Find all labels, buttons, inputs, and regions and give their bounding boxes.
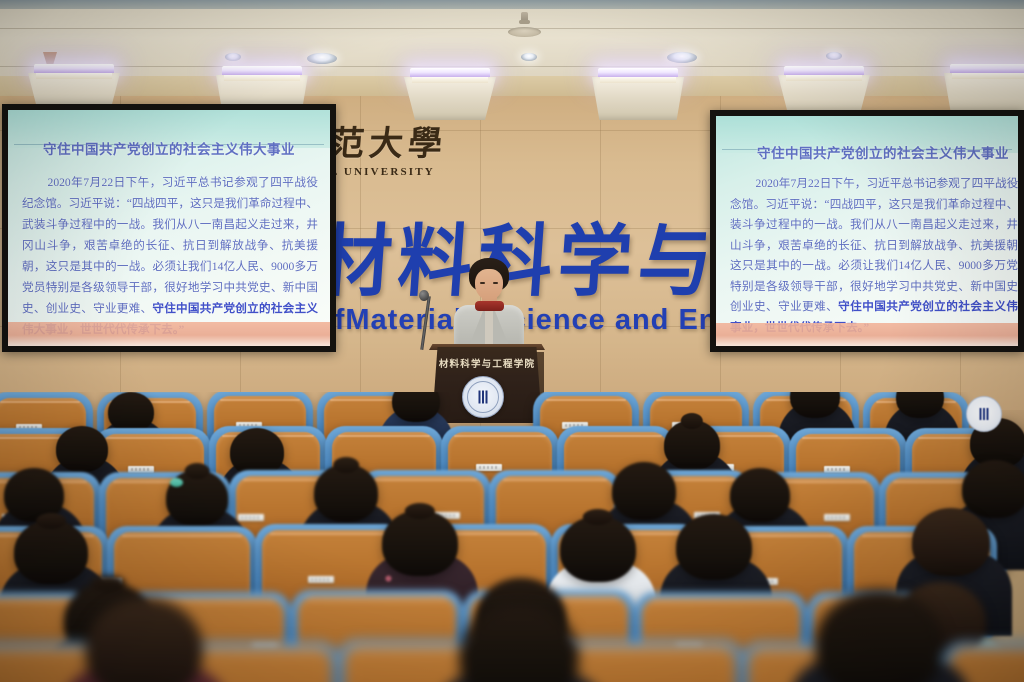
hair-scrunchie — [170, 478, 183, 487]
audience-member-head — [382, 510, 458, 576]
audience-member-head — [56, 426, 108, 472]
audience-seating — [0, 392, 1024, 682]
light-lip — [412, 77, 488, 83]
slide-surface: 守住中国共产党创立的社会主义伟大事业 2020年7月22日下午，习近平总书记参观… — [8, 110, 330, 346]
seat-number-plate — [824, 514, 850, 521]
sprinkler-icon — [521, 12, 528, 22]
audience-member-head — [560, 516, 636, 582]
seat-number-plate — [476, 464, 502, 471]
light-lip — [600, 77, 676, 83]
slide-footer-band — [716, 323, 1018, 346]
audience-member-head — [230, 428, 284, 476]
slide-paragraph: 2020年7月22日下午，习近平总书记参观了四平战役纪念馆。习近平说：“四战四平… — [22, 176, 318, 315]
slide-footer-band — [8, 322, 330, 346]
ceiling-box-light — [404, 68, 496, 120]
left-projection-screen: 守住中国共产党创立的社会主义伟大事业 2020年7月22日下午，习近平总书记参观… — [2, 104, 336, 352]
slide-body: 2020年7月22日下午，习近平总书记参观了四平战役纪念馆。习近平说：“四战四平… — [730, 174, 1018, 338]
ceiling-seam — [0, 66, 1024, 67]
university-name-chinese: 范大學 — [329, 128, 482, 162]
wall-emblem-icon — [966, 396, 1002, 432]
audience-member-head — [912, 508, 990, 576]
light-lip — [36, 73, 112, 79]
department-sign-english: ofMaterials Science and Eng — [316, 306, 736, 335]
light-housing — [592, 77, 684, 120]
slide-body: 2020年7月22日下午，习近平总书记参观了四平战役纪念馆。习近平说：“四战四平… — [22, 172, 318, 340]
slide-title: 守住中国共产党创立的社会主义伟大事业 — [8, 138, 330, 158]
seat-number-plate — [238, 514, 264, 521]
light-lip — [224, 75, 300, 81]
recessed-light-icon — [521, 53, 537, 61]
university-name-english: L UNIVERSITY — [330, 166, 480, 178]
audience-member-head — [314, 464, 378, 522]
audience-member-head — [108, 392, 154, 432]
audience-member-head — [962, 460, 1024, 518]
downlight-icon — [667, 52, 697, 63]
light-lip — [952, 73, 1024, 79]
slide-surface: 守住中国共产党创立的社会主义伟大事业 2020年7月22日下午，习近平总书记参观… — [716, 116, 1018, 346]
light-lip — [786, 75, 862, 81]
audience-member-head — [612, 462, 676, 520]
university-name-block: 范大學 L UNIVERSITY — [330, 128, 480, 178]
recessed-light-icon — [826, 52, 842, 60]
ceiling-top-strip — [0, 0, 1024, 9]
right-projection-screen: 守住中国共产党创立的社会主义伟大事业 2020年7月22日下午，习近平总书记参观… — [710, 110, 1024, 352]
seat-number-plate — [308, 576, 334, 583]
audience-member-head — [730, 468, 790, 522]
lecture-hall-photo: 范大學 L UNIVERSITY 材料科学与工程学院 ofMaterials S… — [0, 0, 1024, 682]
ceiling-speaker-icon — [508, 27, 541, 37]
downlight-icon — [307, 53, 337, 64]
slide-title: 守住中国共产党创立的社会主义伟大事业 — [716, 142, 1018, 162]
ceiling-box-light — [944, 64, 1024, 116]
audience-member-head — [14, 520, 88, 584]
slide-paragraph: 2020年7月22日下午，习近平总书记参观了四平战役纪念馆。习近平说：“四战四平… — [730, 177, 1018, 313]
light-housing — [404, 77, 496, 120]
recessed-light-icon — [225, 53, 241, 61]
audience-member-head — [664, 420, 720, 470]
ceiling-box-light — [592, 68, 684, 120]
audience-member-head — [676, 514, 752, 580]
